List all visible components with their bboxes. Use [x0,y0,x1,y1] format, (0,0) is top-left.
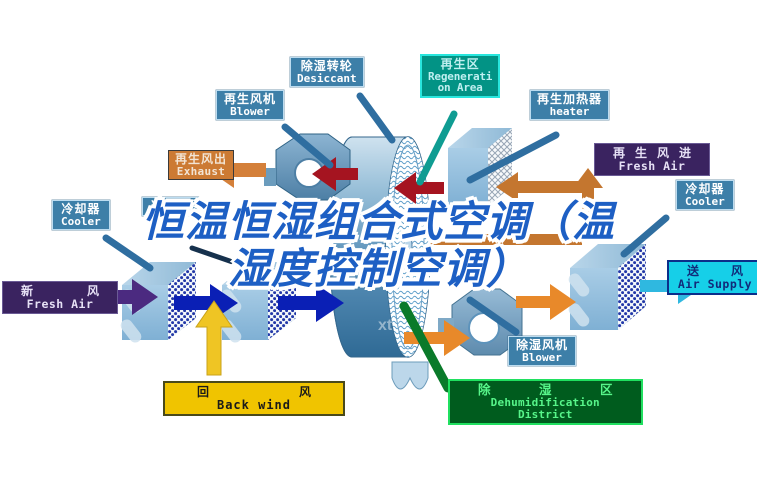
supply-coil-unit [566,244,646,330]
label-air-supply-cn: 送 风 [677,265,753,278]
label-regeneration-area[interactable]: 再生区 Regenerati on Area [420,54,500,98]
label-dehumidification-blower-cn: 除湿风机 [516,339,568,352]
label-regeneration-exhaust-cn: 再生风出 [175,153,227,166]
label-back-wind-cn: 回 风 [175,386,333,399]
label-regeneration-area-en-2: on Area [428,82,492,94]
label-regeneration-heater[interactable]: 再生加热器 heater [530,90,609,120]
label-cooler-left-en: Cooler [61,216,101,228]
equipment-artwork: xt [0,0,757,488]
label-air-supply[interactable]: 送 风 Air Supply [667,260,757,295]
label-regeneration-exhaust[interactable]: 再生风出 Exhaust [168,150,234,180]
label-cooler-mid[interactable]: 冷却器 [142,197,199,216]
label-regeneration-area-cn: 再生区 [428,58,492,71]
label-regeneration-blower[interactable]: 再生风机 Blower [216,90,284,120]
label-dehumidification-district-en-2: District [460,409,631,421]
label-regeneration-blower-en: Blower [224,106,276,118]
label-cooler-left-cn: 冷却器 [61,203,101,216]
watermark-text: xt [378,317,393,334]
blower-to-coil-arrow [516,284,576,320]
label-regeneration-exhaust-en: Exhaust [175,166,227,178]
label-fresh-air-in-cn: 新 风 [11,285,109,298]
label-regeneration-fresh-air[interactable]: 再生风进 Fresh Air [594,143,710,176]
regeneration-heater-unit [448,128,512,206]
label-air-supply-en: Air Supply [677,278,753,290]
label-back-wind-en: Back wind [175,399,333,412]
label-regeneration-fresh-air-cn: 再生风进 [603,147,701,160]
label-dehumidification-blower[interactable]: 除湿风机 Blower [508,336,576,366]
label-dehumidification-blower-en: Blower [516,352,568,364]
label-regeneration-blower-cn: 再生风机 [224,93,276,106]
label-fresh-air-in-en: Fresh Air [11,298,109,310]
label-cooler-right-cn: 冷却器 [685,183,725,196]
label-desiccant-wheel-cn: 除湿转轮 [297,60,357,73]
label-cooler-left[interactable]: 冷却器 Cooler [52,200,110,230]
label-regeneration-fresh-air-en: Fresh Air [603,160,701,172]
label-desiccant-wheel-en: Desiccant [297,73,357,85]
label-regeneration-heater-cn: 再生加热器 [537,93,602,106]
label-cooler-mid-cn: 冷却器 [151,200,190,213]
label-dehumidification-district[interactable]: 除 湿 区 Dehumidification District [448,379,643,425]
label-cooler-right-en: Cooler [685,196,725,208]
label-fresh-air-in[interactable]: 新 风 Fresh Air [2,281,118,314]
label-regeneration-heater-en: heater [537,106,602,118]
diagram-canvas: xt 除湿转轮 Desiccant 再生风机 Blower 再生风出 Exhau… [0,0,757,488]
label-desiccant-wheel[interactable]: 除湿转轮 Desiccant [290,57,364,87]
label-cooler-right[interactable]: 冷却器 Cooler [676,180,734,210]
label-back-wind[interactable]: 回 风 Back wind [163,381,345,416]
label-dehumidification-district-en-1: Dehumidification [460,397,631,409]
